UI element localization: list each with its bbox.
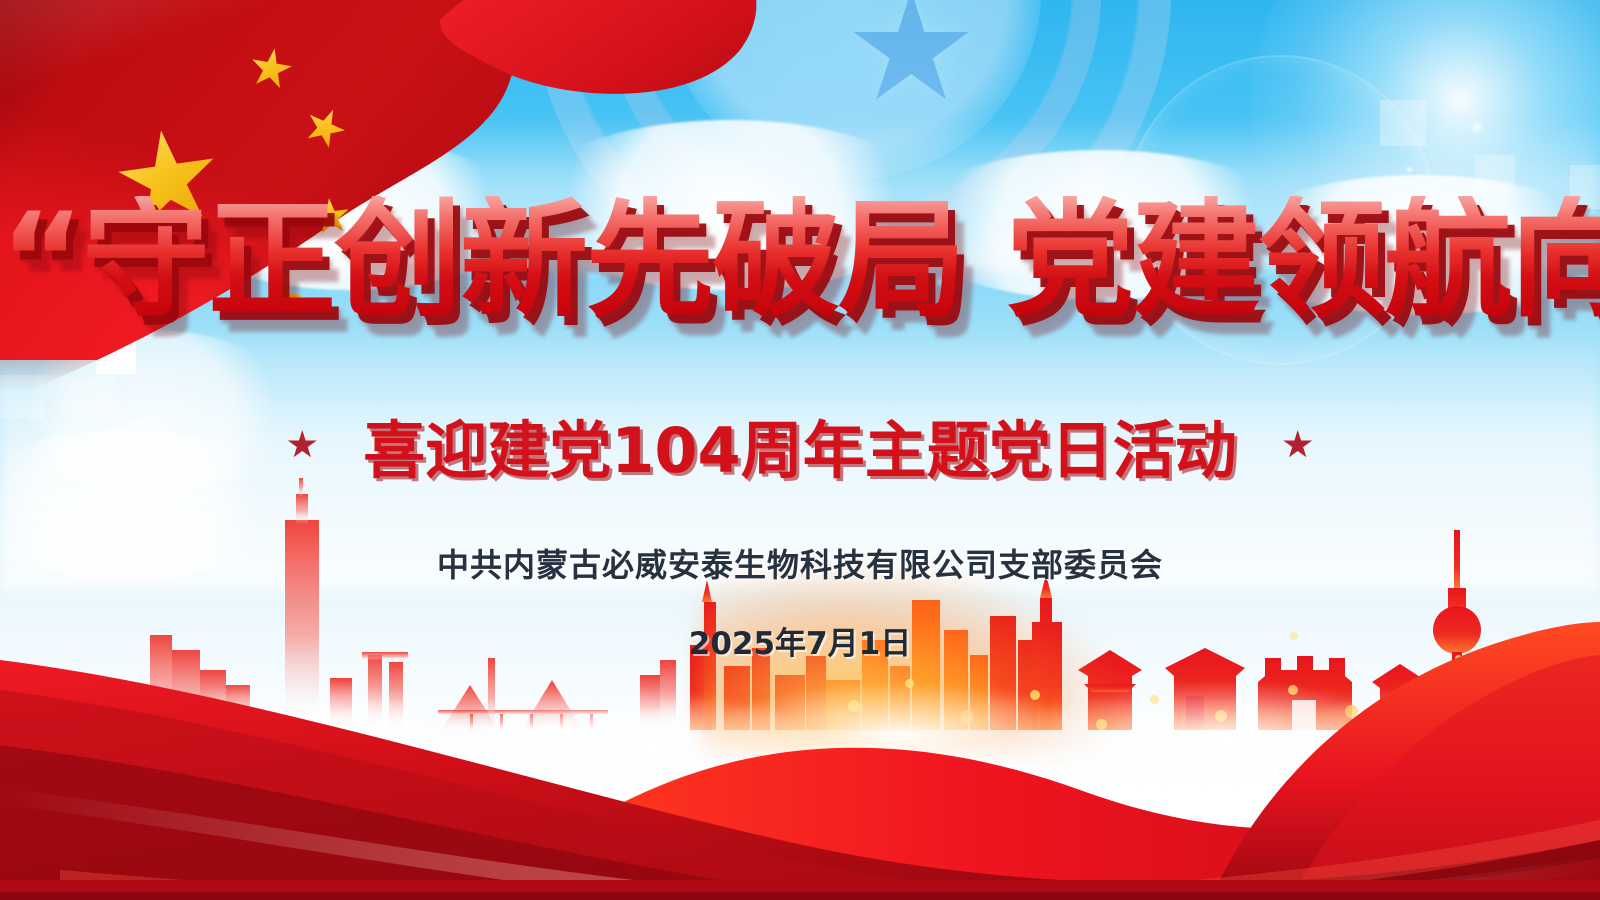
headline-line-1: 守正创新先破局 (82, 186, 964, 335)
ribbon-svg (0, 540, 1600, 900)
event-date: 2025年7月1日 (0, 618, 1600, 663)
headline: “守正创新先破局党建领航向阳生” (0, 196, 1600, 327)
party-day-poster: “守正创新先破局党建领航向阳生” 喜迎建党104周年主题党日活动 中共内蒙古必威… (0, 0, 1600, 900)
decor-square (1380, 100, 1426, 146)
headline-line-2: 党建领航向阳生 (1006, 186, 1600, 335)
star-icon-left (287, 430, 317, 460)
organization-name: 中共内蒙古必威安泰生物科技有限公司支部委员会 (0, 540, 1600, 586)
subtitle: 喜迎建党104周年主题党日活动 (363, 400, 1236, 490)
bottom-ribbon-layer (0, 540, 1600, 900)
star-icon-right (1283, 430, 1313, 460)
ribbon-bottom-bar-dark (0, 892, 1600, 900)
decor-square (44, 375, 74, 403)
subtitle-row: 喜迎建党104周年主题党日活动 (0, 400, 1600, 490)
title-block: “守正创新先破局党建领航向阳生” (0, 196, 1600, 327)
quote-open: “ (0, 186, 82, 335)
flag-star-small-icon (247, 45, 296, 94)
